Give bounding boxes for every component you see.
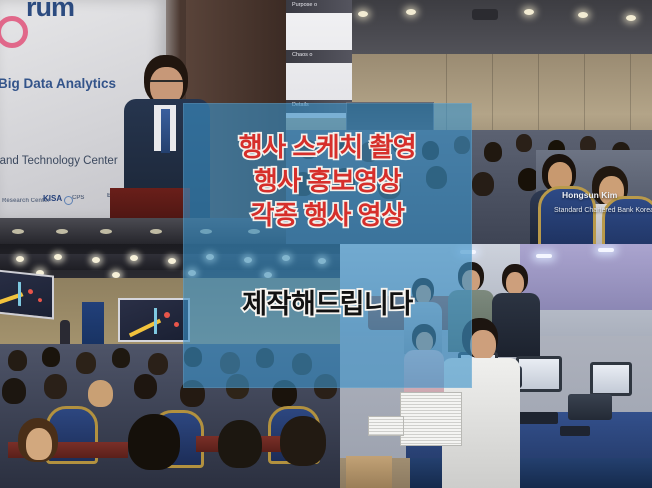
sponsor-logo-kisa: KISA xyxy=(43,194,62,203)
monitor-2 xyxy=(516,356,562,392)
document-stack xyxy=(400,392,462,446)
banner-headline-text: d Big Data Analytics xyxy=(0,76,116,91)
promo-headline-line-1: 행사 스케치 촬영 xyxy=(183,131,472,165)
speaker-necktie xyxy=(161,109,170,153)
storage-box xyxy=(346,456,392,488)
slide-bullet-0: Purpose o xyxy=(292,2,317,8)
promo-image-canvas: rum d Big Data Analytics e and Technolog… xyxy=(0,0,652,488)
attendee-name-label: Hongsun Kim xyxy=(562,190,617,200)
projection-screen-center xyxy=(118,298,190,342)
banner-logo-text: rum xyxy=(26,0,74,23)
sponsor-logo-cps: CPS xyxy=(72,195,84,201)
banner-subline-text: e and Technology Center xyxy=(0,155,118,167)
attendee-affiliation-label: Standard Chartered Bank Korea xyxy=(554,207,652,214)
projection-screen-left xyxy=(0,268,54,319)
slide-bullet-1: Chaos o xyxy=(292,52,313,58)
promo-text-overlay-panel: 행사 스케치 촬영 행사 홍보영상 각종 행사 영상 제작해드립니다 xyxy=(183,103,472,388)
presentation-slide: Purpose o Chaos o Details xyxy=(286,0,352,118)
speaker-glasses-icon xyxy=(150,80,183,89)
monitor-3 xyxy=(590,362,632,396)
stage-speaker-figure xyxy=(60,320,70,346)
document-stack-2 xyxy=(368,416,404,436)
ceiling-projector-icon xyxy=(472,9,498,20)
promo-headline-line-3: 각종 행사 영상 xyxy=(183,199,472,233)
mouse-pad xyxy=(560,426,590,436)
promo-headline: 행사 스케치 촬영 행사 홍보영상 각종 행사 영상 xyxy=(183,131,472,232)
promo-headline-line-2: 행사 홍보영상 xyxy=(183,165,472,199)
banner-logo-mark-icon xyxy=(0,16,28,48)
printer-2 xyxy=(568,394,612,420)
promo-subtitle: 제작해드립니다 xyxy=(183,288,472,320)
